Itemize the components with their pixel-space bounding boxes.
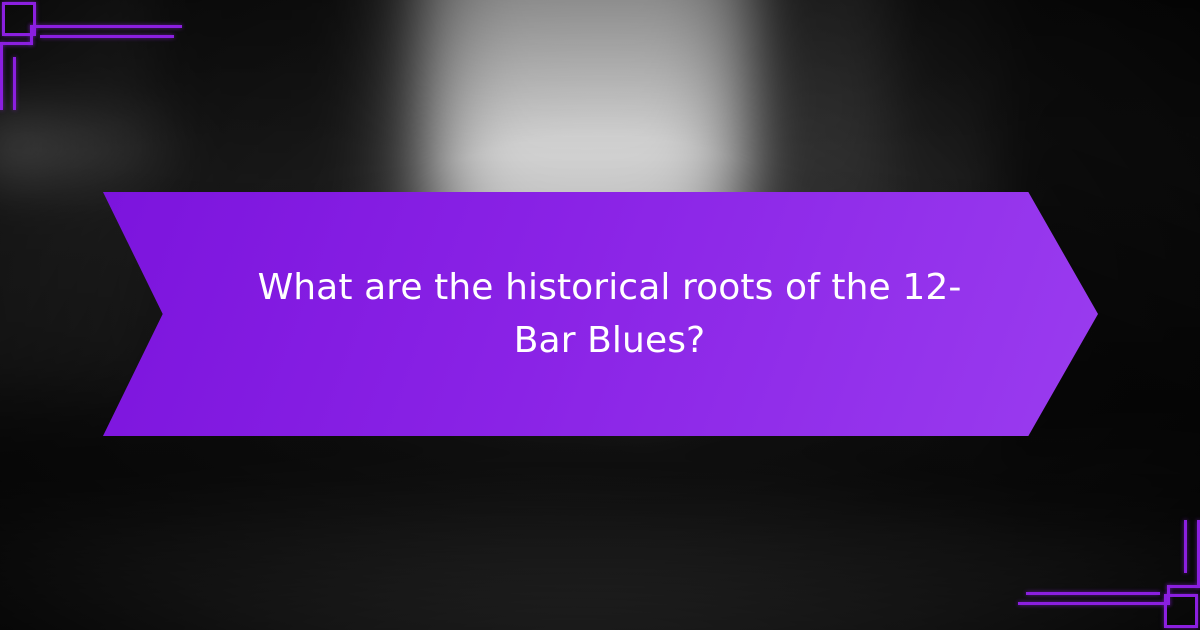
corner-line-outer-horizontal: [30, 25, 182, 28]
corner-line-inner-horizontal: [40, 35, 174, 38]
corner-line-inner-vertical: [1184, 520, 1187, 573]
corner-decoration-top-left: [0, 0, 200, 110]
corner-line-elbow-horizontal: [0, 42, 33, 45]
poster-canvas: What are the historical roots of the 12-…: [0, 0, 1200, 630]
corner-decoration-bottom-right: [1000, 520, 1200, 630]
corner-line-inner-vertical: [13, 57, 16, 110]
headline-banner: What are the historical roots of the 12-…: [103, 192, 1098, 436]
corner-line-elbow-vertical: [1167, 585, 1170, 605]
corner-line-outer-horizontal: [1018, 602, 1170, 605]
corner-line-inner-horizontal: [1026, 592, 1160, 595]
corner-line-outer-vertical: [0, 42, 3, 110]
page-title: What are the historical roots of the 12-…: [222, 261, 980, 368]
corner-line-elbow-horizontal: [1167, 585, 1200, 588]
